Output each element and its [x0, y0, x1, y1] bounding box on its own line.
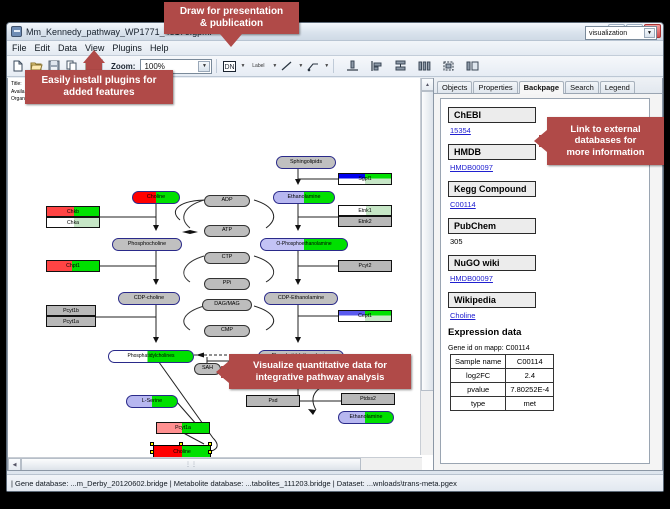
- tab-search[interactable]: Search: [565, 81, 599, 93]
- gene-node[interactable]: Etnk2: [338, 216, 392, 227]
- align-left-icon[interactable]: [368, 58, 384, 74]
- gene-node[interactable]: Pcyt1a: [46, 316, 96, 327]
- metabolite-node[interactable]: PPi: [204, 278, 250, 290]
- info-availability-line: Availa: [11, 89, 25, 97]
- horizontal-scroll-thumb[interactable]: ⋮⋮: [21, 458, 361, 471]
- node-label: ATP: [222, 228, 232, 233]
- metabolite-node[interactable]: CDP-Ethanolamine: [264, 292, 338, 305]
- line-icon[interactable]: [279, 58, 295, 74]
- kegg-compound-header: Kegg Compound: [448, 181, 536, 197]
- node-label: Pcyt1b: [63, 308, 79, 314]
- node-label: SAH: [202, 366, 213, 371]
- callout-visualize-text: Visualize quantitative data for integrat…: [253, 360, 387, 383]
- table-row: Sample name C00114: [451, 355, 554, 369]
- menu-bar: File Edit Data View Plugins Help: [7, 41, 663, 56]
- node-label: CMP: [221, 328, 233, 333]
- order-icon[interactable]: [464, 58, 480, 74]
- resize-handle[interactable]: [150, 442, 154, 446]
- callout-plugins-text: Easily install plugins for added feature…: [41, 75, 156, 99]
- gene-id-note: Gene id on mapp: C00114: [448, 345, 642, 352]
- expression-data-table: Sample name C00114 log2FC 2.4 pvalue 7.8…: [450, 354, 554, 411]
- node-label: Psd: [269, 398, 278, 404]
- metabolite-node[interactable]: Phosphatidylcholines: [108, 350, 194, 363]
- chevron-down-icon[interactable]: ▼: [272, 63, 277, 69]
- status-bar: | Gene database: ...m_Derby_20120602.bri…: [7, 474, 663, 491]
- node-label: Chkb: [67, 209, 79, 215]
- hmdb-header: HMDB: [448, 144, 536, 160]
- nugo-wiki-header: NuGO wiki: [448, 255, 536, 271]
- resize-handle[interactable]: [208, 450, 212, 454]
- menu-plugins[interactable]: Plugins: [112, 43, 147, 53]
- metabolite-node[interactable]: Ethanolamine: [338, 411, 394, 424]
- metabolite-node[interactable]: Ethanolamine: [273, 191, 335, 204]
- tab-legend[interactable]: Legend: [600, 81, 635, 93]
- metabolite-node[interactable]: Choline: [132, 191, 180, 204]
- row-key: Sample name: [451, 355, 506, 369]
- metabolite-node[interactable]: L-Serine: [126, 395, 178, 408]
- distribute-icon[interactable]: [416, 58, 432, 74]
- chebi-header: ChEBI: [448, 107, 536, 123]
- node-label: Sphingolipids: [290, 160, 322, 165]
- callout-draw-text: Draw for presentation & publication: [180, 6, 283, 30]
- row-key: log2FC: [451, 369, 506, 383]
- nugo-wiki-link[interactable]: HMDB00097: [450, 274, 642, 283]
- tab-objects[interactable]: Objects: [437, 81, 472, 93]
- callout-links-text: Link to external databases for more info…: [566, 124, 644, 159]
- row-key: pvalue: [451, 383, 506, 397]
- metabolite-node[interactable]: ATP: [204, 225, 250, 237]
- group-icon[interactable]: [440, 58, 456, 74]
- gene-node[interactable]: Pcyt1a: [156, 422, 210, 434]
- resize-handle[interactable]: [150, 450, 154, 454]
- row-value: C00114: [506, 355, 554, 369]
- toolbar-separator: [216, 59, 217, 73]
- row-value: 2.4: [506, 369, 554, 383]
- node-label: O-Phosphoethanolamine: [276, 242, 331, 247]
- resize-handle[interactable]: [208, 442, 212, 446]
- node-label: Pcyt1a: [175, 425, 191, 431]
- chevron-down-icon[interactable]: ▼: [298, 63, 303, 69]
- gene-node[interactable]: Ptdss2: [341, 393, 395, 405]
- node-label: Choline: [147, 195, 165, 200]
- chevron-down-icon[interactable]: ▼: [198, 61, 210, 72]
- data-node-icon[interactable]: DN: [221, 58, 237, 74]
- info-organism-line: Organ: [11, 96, 25, 104]
- menu-file[interactable]: File: [12, 43, 32, 53]
- gene-node[interactable]: Psd: [246, 395, 300, 407]
- metabolite-node[interactable]: ADP: [204, 195, 250, 207]
- wikipedia-header: Wikipedia: [448, 292, 536, 308]
- metabolite-node[interactable]: CDP-choline: [118, 292, 180, 305]
- node-label: Pcyt1a: [63, 319, 79, 325]
- toolbar-separator: [333, 59, 334, 73]
- title-bar: Mm_Kennedy_pathway_WP1771_45176.gpml — □…: [7, 23, 663, 41]
- callout-links: Link to external databases for more info…: [547, 117, 664, 165]
- label-icon[interactable]: Label: [247, 58, 269, 74]
- callout-visualize-arrow-icon: [216, 361, 229, 383]
- canvas-vertical-scrollbar[interactable]: ▲: [420, 78, 433, 455]
- tab-properties[interactable]: Properties: [473, 81, 517, 93]
- pathway-info-text: Title: Availa Organ: [11, 81, 25, 104]
- node-label: ADP: [221, 198, 232, 203]
- app-icon: [11, 26, 22, 37]
- table-row: log2FC 2.4: [451, 369, 554, 383]
- pubchem-header: PubChem: [448, 218, 536, 234]
- callout-draw-arrow-icon: [220, 34, 242, 47]
- screenshot-root: Mm_Kennedy_pathway_WP1771_45176.gpml — □…: [0, 0, 670, 509]
- menu-help[interactable]: Help: [150, 43, 174, 53]
- gene-node[interactable]: Pcyt2: [338, 260, 392, 272]
- metabolite-node[interactable]: Phosphocholine: [112, 238, 182, 251]
- metabolite-node[interactable]: CTP: [204, 252, 250, 264]
- info-title-line: Title:: [11, 81, 25, 89]
- expression-data-heading: Expression data: [448, 327, 642, 338]
- scroll-left-arrow[interactable]: ◀: [8, 458, 21, 471]
- table-row: pvalue 7.80252E-4: [451, 383, 554, 397]
- new-file-icon[interactable]: [10, 58, 26, 74]
- svg-text:DN: DN: [224, 64, 234, 71]
- table-row: type met: [451, 397, 554, 411]
- row-value: met: [506, 397, 554, 411]
- kegg-compound-link[interactable]: C00114: [450, 200, 642, 209]
- menu-data[interactable]: Data: [58, 43, 82, 53]
- callout-plugins-arrow-icon: [83, 50, 105, 63]
- row-value: 7.80252E-4: [506, 383, 554, 397]
- gene-node[interactable]: Chka: [46, 217, 100, 228]
- tab-backpage[interactable]: Backpage: [519, 81, 564, 94]
- chevron-down-icon[interactable]: ▼: [324, 63, 329, 69]
- callout-draw: Draw for presentation & publication: [164, 2, 299, 34]
- node-label: Phosphatidylcholines: [128, 354, 175, 359]
- callout-visualize: Visualize quantitative data for integrat…: [229, 354, 411, 389]
- interaction-icon[interactable]: [305, 58, 321, 74]
- callout-links-arrow-icon: [534, 130, 547, 152]
- side-panel-tabs: Objects Properties Backpage Search Legen…: [434, 78, 662, 94]
- scroll-up-arrow[interactable]: ▲: [421, 78, 434, 91]
- node-label: Chka: [67, 220, 79, 226]
- node-label: CTP: [222, 255, 233, 260]
- status-text: | Gene database: ...m_Derby_20120602.bri…: [11, 479, 457, 488]
- canvas-horizontal-scrollbar[interactable]: ◀ ⋮⋮: [8, 457, 422, 470]
- row-key: type: [451, 397, 506, 411]
- align-bottom-icon[interactable]: [344, 58, 360, 74]
- stack-icon[interactable]: [392, 58, 408, 74]
- callout-plugins: Easily install plugins for added feature…: [25, 70, 173, 104]
- resize-handle[interactable]: [179, 442, 183, 446]
- node-label: CDP-Ethanolamine: [278, 296, 324, 301]
- node-label: Sgpl1: [358, 176, 371, 182]
- node-label: Chpt1: [66, 263, 80, 269]
- pubchem-value: 305: [450, 237, 642, 246]
- node-label: Etnk2: [358, 219, 371, 225]
- node-label: Ethanolamine: [350, 415, 383, 420]
- node-label: Ptdss2: [360, 396, 376, 402]
- node-label: DAG/MAG: [214, 302, 239, 307]
- wikipedia-link[interactable]: Choline: [450, 311, 642, 320]
- pathway-canvas[interactable]: Title: Availa Organ: [7, 78, 434, 471]
- gene-node[interactable]: Chkb: [46, 206, 100, 217]
- node-label: Ethanolamine: [288, 195, 321, 200]
- metabolite-node[interactable]: DAG/MAG: [202, 299, 252, 311]
- menu-edit[interactable]: Edit: [35, 43, 56, 53]
- node-label: Cept1: [358, 313, 372, 319]
- vertical-scroll-thumb[interactable]: [421, 91, 434, 391]
- node-label: CDP-choline: [134, 296, 164, 301]
- gene-node[interactable]: Chpt1: [46, 260, 100, 272]
- gene-node[interactable]: Etnk1: [338, 205, 392, 216]
- metabolite-node[interactable]: CMP: [204, 325, 250, 337]
- node-label: L-Serine: [142, 399, 162, 404]
- metabolite-node[interactable]: Sphingolipids: [276, 156, 336, 169]
- gene-node[interactable]: Pcyt1b: [46, 305, 96, 316]
- node-label: PPi: [223, 281, 231, 286]
- node-label: Phosphocholine: [128, 242, 166, 247]
- node-label: Choline: [173, 449, 191, 455]
- chevron-down-icon[interactable]: ▼: [240, 63, 245, 69]
- node-label: Etnk1: [358, 208, 371, 214]
- node-label: Pcyt2: [359, 263, 372, 269]
- metabolite-node[interactable]: O-Phosphoethanolamine: [260, 238, 348, 251]
